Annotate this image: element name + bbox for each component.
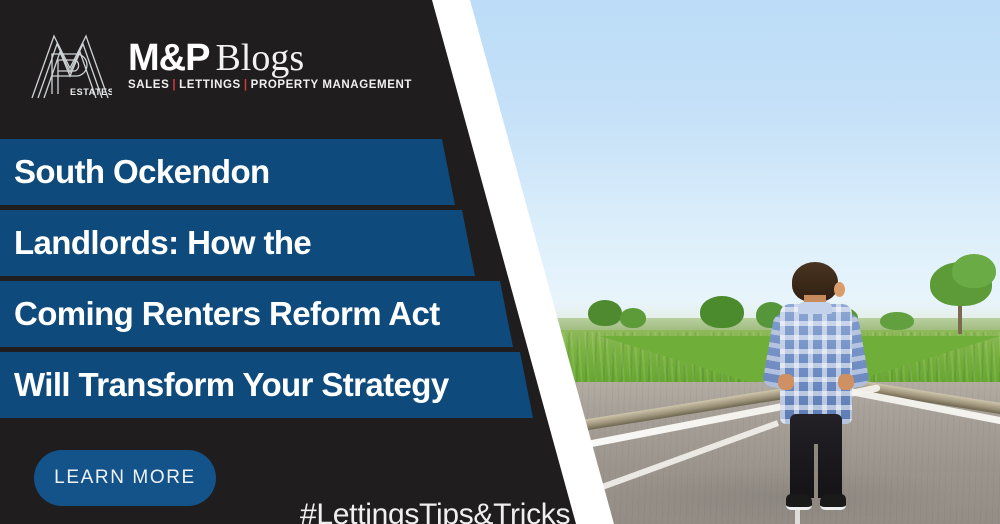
blog-banner-graphic: ESTATES M&P Blogs SALES|LETTINGS|PROPERT… (0, 0, 1000, 524)
tagline-sales: SALES (128, 79, 169, 91)
mp-estates-monogram-icon: ESTATES (28, 28, 112, 102)
headline-line-4: Will Transform Your Strategy (0, 366, 449, 404)
brand-name-serif: Blogs (215, 39, 304, 77)
headline-bar: Will Transform Your Strategy (0, 352, 533, 418)
learn-more-button[interactable]: LEARN MORE (34, 450, 216, 506)
tagline-separator: | (169, 79, 179, 91)
leg-gap (814, 444, 818, 498)
shoe-left (786, 494, 812, 510)
hand-left (778, 374, 794, 390)
headline-line-2: Landlords: How the (0, 224, 311, 262)
plaid-shirt (780, 304, 852, 424)
headline-line-3: Coming Renters Reform Act (0, 295, 440, 333)
headline-block: South Ockendon Landlords: How the Coming… (0, 139, 533, 423)
headline-bar: Coming Renters Reform Act (0, 281, 513, 347)
tree-canopy-icon (952, 254, 996, 288)
hashtag-text: #LettingsTips&Tricks (300, 498, 570, 524)
bush-icon (700, 296, 744, 328)
headline-bar: South Ockendon (0, 139, 455, 205)
brand-name-bold: M&P (128, 39, 209, 77)
bush-icon (588, 300, 622, 326)
tagline-lettings: LETTINGS (179, 79, 241, 91)
brand-name-row: M&P Blogs (128, 39, 412, 77)
shoe-right (820, 494, 846, 510)
estates-wordmark: ESTATES (70, 87, 112, 97)
person-figure (760, 262, 870, 512)
hand-right (838, 374, 854, 390)
tagline-property-management: PROPERTY MANAGEMENT (251, 79, 412, 91)
brand-tagline: SALES|LETTINGS|PROPERTY MANAGEMENT (128, 79, 412, 91)
bush-icon (620, 308, 646, 328)
shirt-collar (798, 302, 832, 314)
brand-text: M&P Blogs SALES|LETTINGS|PROPERTY MANAGE… (128, 39, 412, 91)
brand-logo[interactable]: ESTATES M&P Blogs SALES|LETTINGS|PROPERT… (28, 28, 412, 102)
ear (834, 282, 845, 297)
headline-bar: Landlords: How the (0, 210, 475, 276)
headline-line-1: South Ockendon (0, 153, 270, 191)
bush-icon (880, 312, 914, 330)
tagline-separator: | (241, 79, 251, 91)
